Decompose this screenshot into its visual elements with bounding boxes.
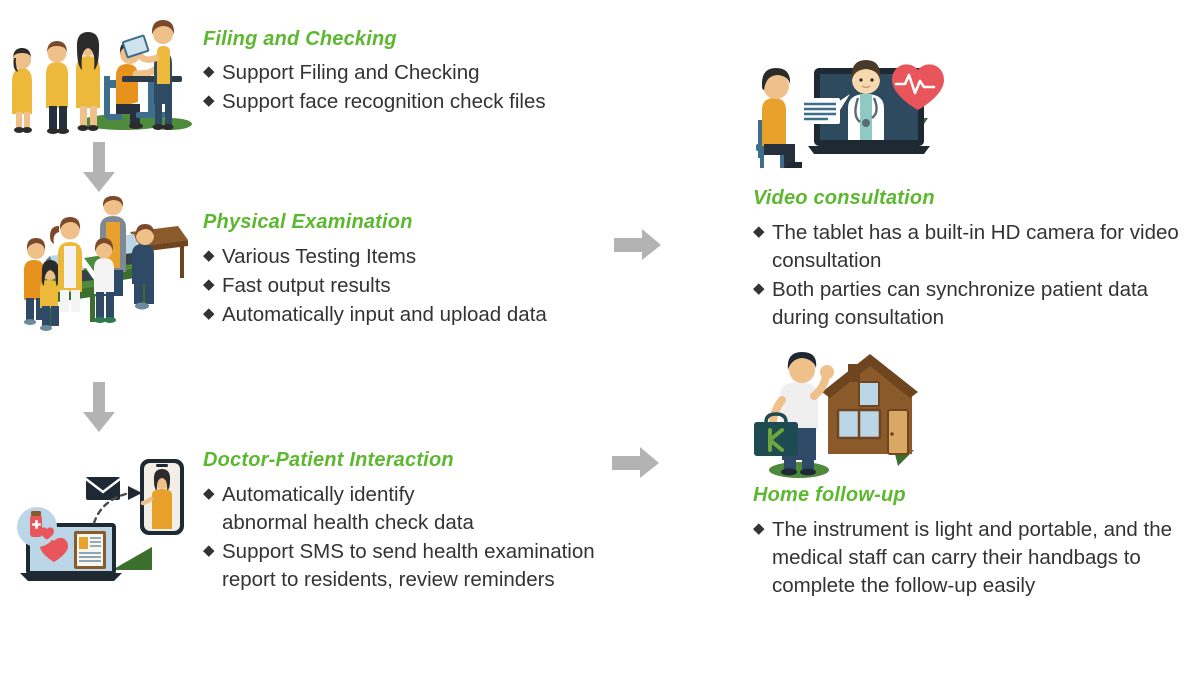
doctor-on-screen <box>848 60 884 140</box>
envelope-icon <box>86 477 120 500</box>
bullet-item: ◆ Automatically input and upload data <box>203 301 633 329</box>
bullet-text: Automatically identify abnormal health c… <box>222 483 474 534</box>
bullet-item: ◆ Automatically identify abnormal health… <box>203 481 487 537</box>
house <box>822 354 918 454</box>
step-heading: Filing and Checking <box>203 28 633 51</box>
step-heading: Home follow-up <box>753 484 1193 507</box>
bullet-item: ◆ The instrument is light and portable, … <box>753 516 1197 600</box>
bullet-diamond-icon: ◆ <box>203 538 215 565</box>
bullet-diamond-icon: ◆ <box>753 219 765 246</box>
down-arrow-2 <box>82 382 116 434</box>
bullet-item: ◆ The tablet has a built-in HD camera fo… <box>753 219 1192 275</box>
bullet-text: The tablet has a built-in HD camera for … <box>772 221 1179 272</box>
bullet-diamond-icon: ◆ <box>203 88 215 115</box>
bullet-diamond-icon: ◆ <box>203 59 215 86</box>
bullet-text: Both parties can synchronize patient dat… <box>772 278 1148 329</box>
illustration-laptop-report-sms-to-phone <box>2 455 194 590</box>
bullet-item: ◆ Support Filing and Checking <box>203 59 633 87</box>
queue-person-3 <box>76 32 100 131</box>
bullet-text: The instrument is light and portable, an… <box>772 518 1172 597</box>
illustration-isometric-testing-stations <box>2 196 194 336</box>
step-bullet-list: ◆ Various Testing Items ◆ Fast output re… <box>203 243 633 329</box>
bullet-diamond-icon: ◆ <box>203 272 215 299</box>
step-bullet-list: ◆ The instrument is light and portable, … <box>753 516 1193 600</box>
step-heading: Physical Examination <box>203 211 633 234</box>
slide-canvas: Filing and Checking ◆ Support Filing and… <box>0 0 1200 675</box>
step-video-consultation: Video consultation ◆ The tablet has a bu… <box>753 187 1193 333</box>
queue-person-1 <box>12 48 32 133</box>
step-filing-and-checking: Filing and Checking ◆ Support Filing and… <box>203 28 633 117</box>
illustration-queue-at-registration-desk <box>4 4 194 140</box>
bullet-text: Support Filing and Checking <box>222 61 480 84</box>
down-arrow-1 <box>82 142 116 194</box>
phone-with-woman <box>140 459 184 535</box>
bullet-diamond-icon: ◆ <box>753 276 765 303</box>
illustration-medic-with-bag-waving-at-house <box>742 352 942 482</box>
right-arrow-1 <box>614 229 662 261</box>
step-bullet-list: ◆ Automatically identify abnormal health… <box>203 481 603 594</box>
step-bullet-list: ◆ Support Filing and Checking ◆ Support … <box>203 59 633 116</box>
bullet-diamond-icon: ◆ <box>753 516 765 543</box>
bullet-diamond-icon: ◆ <box>203 243 215 270</box>
bullet-item: ◆ Support SMS to send health examination… <box>203 538 602 594</box>
bullet-item: ◆ Both parties can synchronize patient d… <box>753 276 1200 332</box>
illustration-video-consultation <box>742 50 952 185</box>
bullet-text: Fast output results <box>222 274 391 297</box>
medical-badge-icon <box>17 507 57 547</box>
bullet-text: Various Testing Items <box>222 245 416 268</box>
right-arrow-2 <box>612 447 660 479</box>
queue-person-2 <box>46 41 69 134</box>
step-heading: Doctor-Patient Interaction <box>203 449 603 472</box>
step-home-follow-up: Home follow-up ◆ The instrument is light… <box>753 484 1193 601</box>
bullet-text: Support face recognition check files <box>222 90 546 113</box>
step-heading: Video consultation <box>753 187 1193 210</box>
patient-on-chair <box>756 68 802 168</box>
tested-person-left <box>40 260 59 331</box>
bullet-item: ◆ Various Testing Items <box>203 243 633 271</box>
bullet-item: ◆ Fast output results <box>203 272 633 300</box>
bullet-diamond-icon: ◆ <box>203 481 215 508</box>
bullet-diamond-icon: ◆ <box>203 301 215 328</box>
bullet-text: Support SMS to send health examination r… <box>222 540 595 591</box>
step-bullet-list: ◆ The tablet has a built-in HD camera fo… <box>753 219 1193 332</box>
step-doctor-patient-interaction: Doctor-Patient Interaction ◆ Automatical… <box>203 449 603 595</box>
bullet-item: ◆ Support face recognition check files <box>203 88 633 116</box>
medic-with-bag <box>754 352 834 476</box>
bullet-text: Automatically input and upload data <box>222 303 547 326</box>
step-physical-examination: Physical Examination ◆ Various Testing I… <box>203 211 633 330</box>
